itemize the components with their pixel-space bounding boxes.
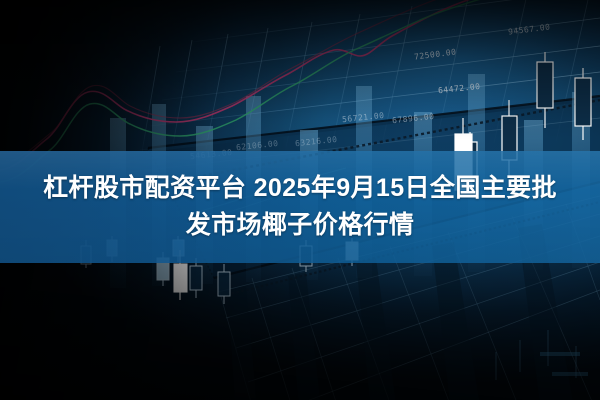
page-title: 杠杆股市配资平台 2025年9月15日全国主要批 发市场椰子价格行情 [0, 151, 600, 263]
title-line-2: 发市场椰子价格行情 [186, 207, 415, 244]
title-line-1: 杠杆股市配资平台 2025年9月15日全国主要批 [43, 170, 557, 207]
banner-image: 94567.00 72500.00 64472.00 56721.00 6789… [0, 0, 600, 400]
